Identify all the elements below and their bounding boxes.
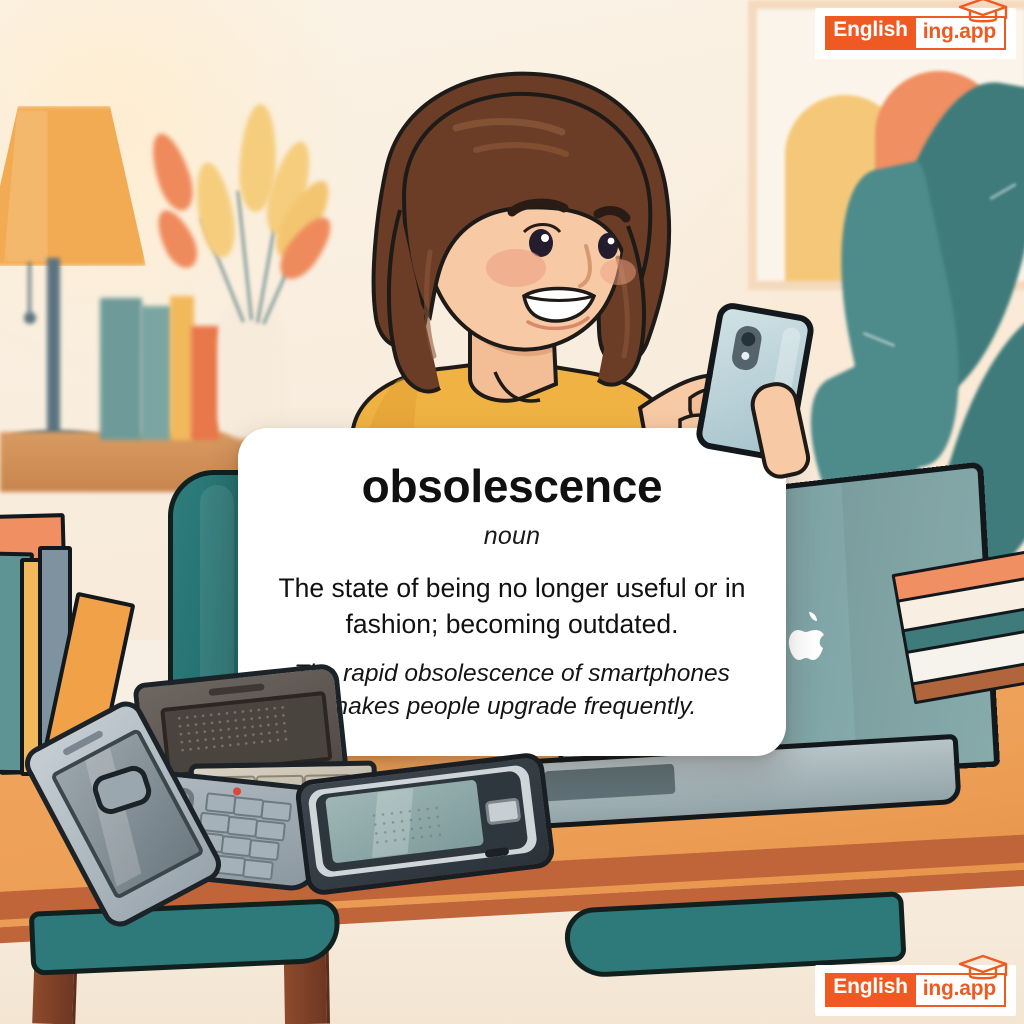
flip-phone-key <box>233 796 265 818</box>
flip-phone-key <box>226 816 258 838</box>
definition-text: The state of being no longer useful or i… <box>267 571 757 642</box>
illustration-canvas: obsolescence noun The state of being no … <box>0 0 1024 1024</box>
logo-lockup: English ing.app <box>825 16 1006 50</box>
old-touchscreen-phone-home-button <box>485 797 522 825</box>
logo-badge-top[interactable]: English ing.app <box>815 8 1016 59</box>
flip-phone-open <box>16 730 316 870</box>
apple-logo-icon <box>787 612 831 664</box>
flip-phone-key <box>248 839 280 861</box>
graduation-cap-icon <box>956 953 1010 983</box>
logo-text-english: English <box>825 16 915 50</box>
part-of-speech: noun <box>484 522 540 551</box>
logo-badge-bottom[interactable]: English ing.app <box>815 965 1016 1016</box>
word-title: obsolescence <box>362 462 663 510</box>
graduation-cap-icon <box>956 0 1010 26</box>
flip-phone-key-red <box>233 787 242 796</box>
flip-phone-key <box>242 859 274 881</box>
logo-lockup: English ing.app <box>825 973 1006 1007</box>
flip-phone-key <box>205 792 237 814</box>
old-touchscreen-phone-port <box>485 847 510 858</box>
old-keypad-phone-earpiece <box>208 683 264 696</box>
logo-text-english: English <box>825 973 915 1007</box>
macbook-trackpad <box>544 764 676 802</box>
flip-phone-key <box>254 820 286 842</box>
office-chair-seat-left <box>29 898 341 975</box>
flip-phone-key <box>220 835 252 857</box>
flip-phone-key <box>260 800 292 822</box>
